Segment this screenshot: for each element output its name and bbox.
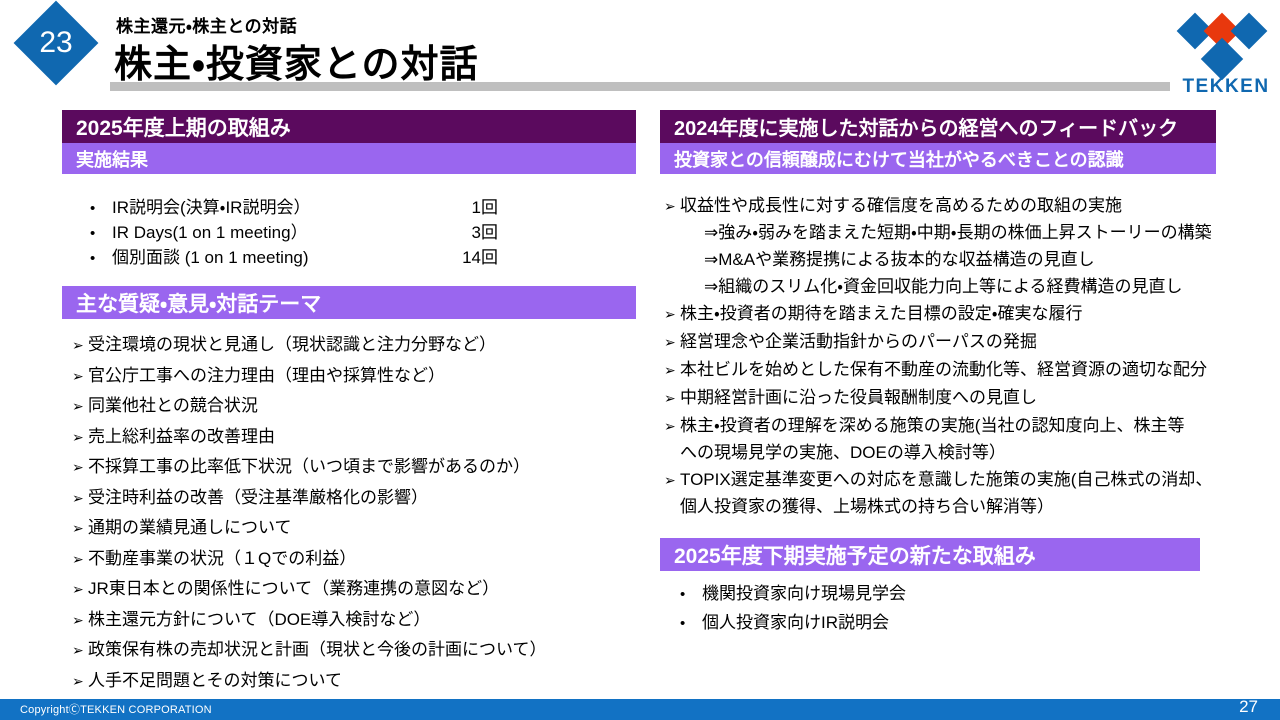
- list-item: •個人投資家向けIR説明会: [668, 609, 1088, 638]
- list-item-label: 同業他社との競合状況: [88, 391, 642, 421]
- bullet-dot-icon: •: [78, 222, 112, 246]
- list-item-body: 中期経営計画に沿った役員報酬制度への見直し: [680, 384, 1224, 411]
- list-item-label: 経営理念や企業活動指針からのパーパスの発掘: [680, 332, 1037, 351]
- list-item: ➢本社ビルを始めとした保有不動産の流動化等、経営資源の適切な配分: [664, 356, 1224, 384]
- list-item: ➢経営理念や企業活動指針からのパーパスの発掘: [664, 328, 1224, 356]
- copyright-text: CopyrightⒸTEKKEN CORPORATION: [20, 701, 212, 717]
- list-item-body: 株主・投資者の期待を踏まえた目標の設定・確実な履行: [680, 300, 1224, 327]
- dialogue-themes-list: ➢受注環境の現状と見通し（現状認識と注力分野など）➢官公庁工事への注力理由（理由…: [72, 330, 642, 696]
- list-item-label: 受注環境の現状と見通し（現状認識と注力分野など）: [88, 330, 642, 360]
- list-item-count: 1回: [472, 196, 498, 220]
- left-themes-title: 主な質疑・意見・対話テーマ: [62, 286, 636, 319]
- list-item: ➢政策保有株の売却状況と計画（現状と今後の計画について）: [72, 635, 642, 666]
- arrow-bullet-icon: ➢: [664, 301, 680, 328]
- list-item-body: TOPIX選定基準変更への対応を意識した施策の実施(自己株式の消却、 個人投資家…: [680, 466, 1224, 520]
- list-item: ➢収益性や成長性に対する確信度を高めるための取組の実施⇒強み・弱みを踏まえた短期…: [664, 192, 1224, 300]
- arrow-bullet-icon: ➢: [72, 331, 88, 361]
- slide-number-badge: 23: [26, 13, 86, 73]
- list-item-body: 収益性や成長性に対する確信度を高めるための取組の実施⇒強み・弱みを踏まえた短期・…: [680, 192, 1224, 300]
- bullet-dot-icon: •: [78, 197, 112, 221]
- left-subsection-title: 実施結果: [62, 143, 636, 174]
- sub-list: ⇒強み・弱みを踏まえた短期・中期・長期の株価上昇ストーリーの構築⇒M&Aや業務提…: [680, 219, 1224, 300]
- arrow-bullet-icon: ➢: [72, 575, 88, 605]
- list-item: ➢通期の業績見通しについて: [72, 513, 642, 544]
- page-title: 株主・投資家との対話: [114, 33, 479, 88]
- sub-list-item: ⇒組織のスリム化・資金回収能力向上等による経費構造の見直し: [680, 273, 1224, 300]
- bullet-dot-icon: •: [668, 610, 702, 638]
- arrow-bullet-icon: ➢: [72, 606, 88, 636]
- arrow-bullet-icon: ➢: [72, 453, 88, 483]
- slide-canvas: 23 株主還元・株主との対話 株主・投資家との対話 TEKKEN 2025年度上…: [0, 0, 1280, 720]
- list-item-label: 本社ビルを始めとした保有不動産の流動化等、経営資源の適切な配分: [680, 360, 1207, 379]
- list-item: ➢不採算工事の比率低下状況（いつ頃まで影響があるのか）: [72, 452, 642, 483]
- list-item-label: 通期の業績見通しについて: [88, 513, 642, 543]
- list-item: •IR説明会(決算・IR説明会）1回: [78, 196, 498, 221]
- list-item-label: 株主還元方針について（DOE導入検討など）: [88, 605, 642, 635]
- list-item: ➢TOPIX選定基準変更への対応を意識した施策の実施(自己株式の消却、 個人投資…: [664, 466, 1224, 520]
- arrow-bullet-icon: ➢: [72, 636, 88, 666]
- list-item-label: 受注時利益の改善（受注基準厳格化の影響）: [88, 483, 642, 513]
- list-item-label: 売上総利益率の改善理由: [88, 422, 642, 452]
- list-item-label: 個人投資家向けIR説明会: [702, 609, 1088, 637]
- list-item: ➢JR東日本との関係性について（業務連携の意図など）: [72, 574, 642, 605]
- arrow-bullet-icon: ➢: [72, 545, 88, 575]
- list-item: ➢官公庁工事への注力理由（理由や採算性など）: [72, 361, 642, 392]
- arrow-bullet-icon: ➢: [72, 362, 88, 392]
- list-item: ➢株主・投資者の理解を深める施策の実施(当社の認知度向上、株主等 への現場見学の…: [664, 412, 1224, 466]
- arrow-bullet-icon: ➢: [72, 667, 88, 697]
- feedback-items-list: ➢収益性や成長性に対する確信度を高めるための取組の実施⇒強み・弱みを踏まえた短期…: [664, 192, 1224, 520]
- list-item: •IR Days(1 on 1 meeting）3回: [78, 221, 498, 246]
- page-number: 27: [1210, 697, 1258, 717]
- list-item-body: 株主・投資者の理解を深める施策の実施(当社の認知度向上、株主等 への現場見学の実…: [680, 412, 1224, 466]
- list-item-label: 中期経営計画に沿った役員報酬制度への見直し: [680, 388, 1037, 407]
- list-item: •個別面談 (1 on 1 meeting)14回: [78, 246, 498, 271]
- list-item: ➢同業他社との競合状況: [72, 391, 642, 422]
- list-item-label: 不動産事業の状況（１Qでの利益）: [88, 544, 642, 574]
- list-item-count: 14回: [462, 246, 498, 270]
- list-item-count: 3回: [472, 221, 498, 245]
- list-item: ➢株主還元方針について（DOE導入検討など）: [72, 605, 642, 636]
- tekken-logo: TEKKEN: [1178, 8, 1274, 96]
- list-item-label: 株主・投資者の理解を深める施策の実施(当社の認知度向上、株主等 への現場見学の実…: [680, 416, 1184, 462]
- arrow-bullet-icon: ➢: [664, 329, 680, 356]
- list-item-label: 政策保有株の売却状況と計画（現状と今後の計画について）: [88, 635, 642, 665]
- list-item: ➢売上総利益率の改善理由: [72, 422, 642, 453]
- arrow-bullet-icon: ➢: [72, 484, 88, 514]
- list-item-label: 官公庁工事への注力理由（理由や採算性など）: [88, 361, 642, 391]
- arrow-bullet-icon: ➢: [72, 392, 88, 422]
- list-item: •機関投資家向け現場見学会: [668, 580, 1088, 609]
- sub-list-item: ⇒M&Aや業務提携による抜本的な収益構造の見直し: [680, 246, 1224, 273]
- bullet-dot-icon: •: [668, 581, 702, 609]
- arrow-bullet-icon: ➢: [664, 193, 680, 220]
- logo-wordmark: TEKKEN: [1178, 76, 1274, 98]
- right-plans-title: 2025年度下期実施予定の新たな取組み: [660, 538, 1200, 571]
- list-item-label: 不採算工事の比率低下状況（いつ頃まで影響があるのか）: [88, 452, 642, 482]
- right-subsection-title: 投資家との信頼醸成にむけて当社がやるべきことの認識: [660, 143, 1216, 174]
- logo-diamond-bottom-icon: [1201, 38, 1243, 80]
- sub-list-item: ⇒強み・弱みを踏まえた短期・中期・長期の株価上昇ストーリーの構築: [680, 219, 1224, 246]
- list-item-label: 機関投資家向け現場見学会: [702, 580, 1088, 608]
- arrow-bullet-icon: ➢: [664, 467, 680, 494]
- list-item-label: JR東日本との関係性について（業務連携の意図など）: [88, 574, 642, 604]
- arrow-bullet-icon: ➢: [72, 514, 88, 544]
- logo-diamond-right-icon: [1231, 13, 1268, 50]
- list-item-body: 本社ビルを始めとした保有不動産の流動化等、経営資源の適切な配分: [680, 356, 1224, 383]
- list-item-label: 株主・投資者の期待を踏まえた目標の設定・確実な履行: [680, 304, 1083, 323]
- implementation-results-list: •IR説明会(決算・IR説明会）1回•IR Days(1 on 1 meetin…: [78, 196, 498, 271]
- list-item: ➢中期経営計画に沿った役員報酬制度への見直し: [664, 384, 1224, 412]
- arrow-bullet-icon: ➢: [72, 423, 88, 453]
- list-item-label: 収益性や成長性に対する確信度を高めるための取組の実施: [680, 196, 1122, 215]
- bullet-dot-icon: •: [78, 247, 112, 271]
- list-item-label: TOPIX選定基準変更への対応を意識した施策の実施(自己株式の消却、 個人投資家…: [680, 470, 1212, 516]
- arrow-bullet-icon: ➢: [664, 385, 680, 412]
- planned-initiatives-list: •機関投資家向け現場見学会•個人投資家向けIR説明会: [668, 580, 1088, 638]
- list-item-label: 人手不足問題とその対策について: [88, 666, 642, 696]
- list-item-body: 経営理念や企業活動指針からのパーパスの発掘: [680, 328, 1224, 355]
- header-divider: [110, 82, 1170, 91]
- left-section-title: 2025年度上期の取組み: [62, 110, 636, 143]
- list-item: ➢人手不足問題とその対策について: [72, 666, 642, 697]
- list-item-label: IR説明会(決算・IR説明会）: [112, 196, 472, 220]
- arrow-bullet-icon: ➢: [664, 413, 680, 440]
- list-item: ➢受注時利益の改善（受注基準厳格化の影響）: [72, 483, 642, 514]
- list-item-label: 個別面談 (1 on 1 meeting): [112, 246, 462, 270]
- list-item-label: IR Days(1 on 1 meeting）: [112, 221, 472, 245]
- arrow-bullet-icon: ➢: [664, 357, 680, 384]
- list-item: ➢受注環境の現状と見通し（現状認識と注力分野など）: [72, 330, 642, 361]
- list-item: ➢株主・投資者の期待を踏まえた目標の設定・確実な履行: [664, 300, 1224, 328]
- list-item: ➢不動産事業の状況（１Qでの利益）: [72, 544, 642, 575]
- right-section-title: 2024年度に実施した対話からの経営へのフィードバック: [660, 110, 1216, 143]
